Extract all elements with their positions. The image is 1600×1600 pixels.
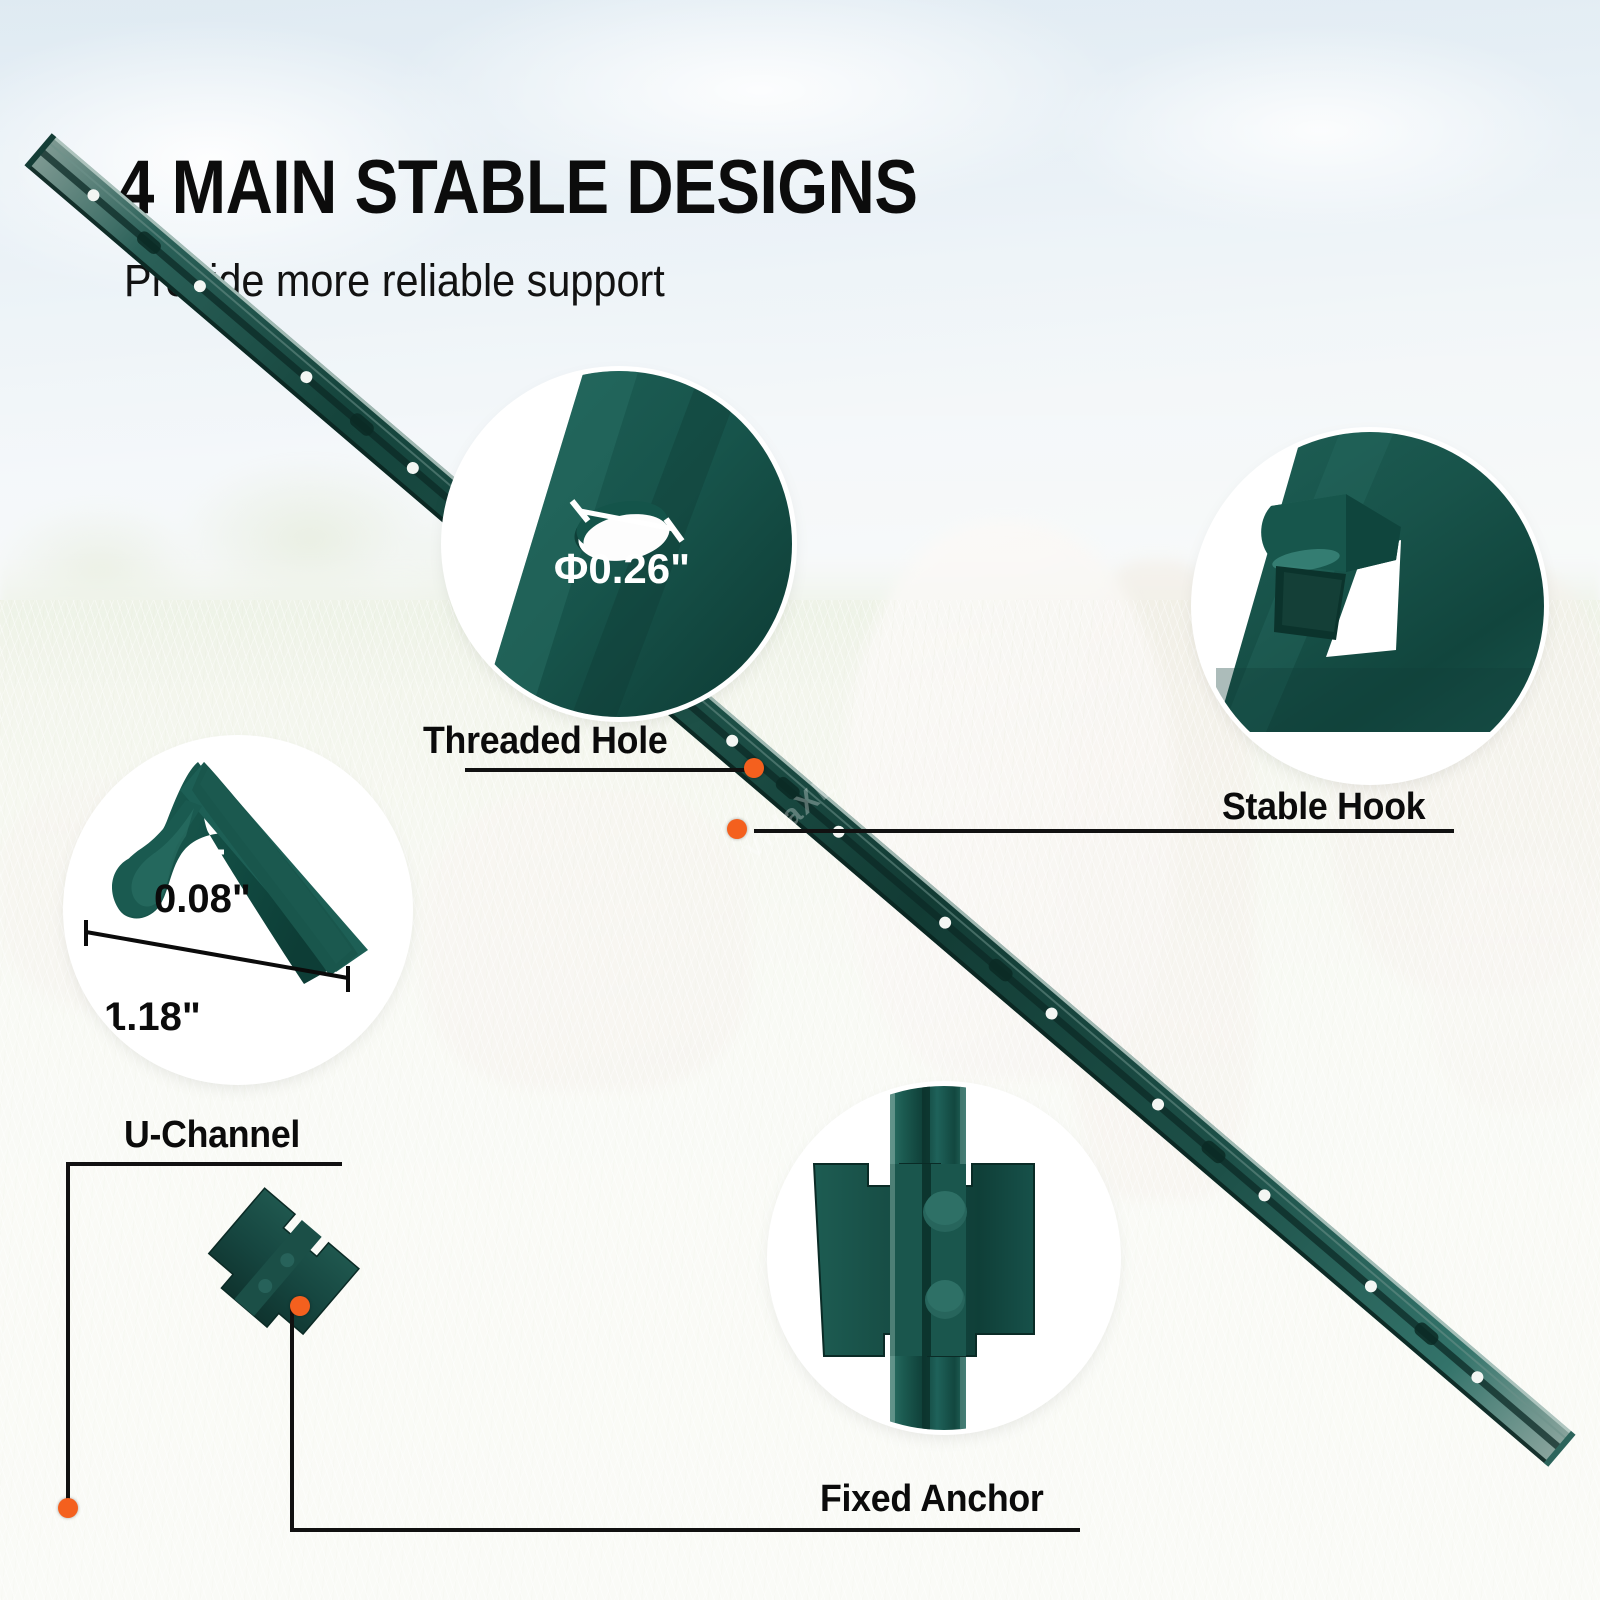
label-fixed-anchor: Fixed Anchor [820,1478,1044,1521]
label-threaded-hole: Threaded Hole [423,720,667,763]
leader-u-channel-v [66,1162,70,1510]
threaded-hole-closeup: Φ0.26" [446,371,792,717]
label-u-channel: U-Channel [124,1114,300,1157]
callout-threaded-hole: Φ0.26" [446,371,792,717]
leader-fixed-anchor-h [290,1528,1080,1532]
fixed-anchor-closeup [772,1086,1116,1430]
label-stable-hook: Stable Hook [1222,786,1425,829]
u-channel-cross-section: 0.08" 1.18" [68,740,408,1080]
leader-u-channel-h [66,1162,342,1166]
marker-fixed-anchor [290,1296,310,1316]
infographic-canvas: 4 MAIN STABLE DESIGNS Provide more relia… [0,0,1600,1600]
marker-u-channel [58,1498,78,1518]
page-subtitle: Provide more reliable support [124,258,665,303]
marker-threaded-hole [744,758,764,778]
callout-u-channel: 0.08" 1.18" [68,740,408,1080]
marker-stable-hook [727,819,747,839]
callout-fixed-anchor [772,1086,1116,1430]
leader-fixed-anchor-v [290,1306,294,1532]
leader-threaded-hole [465,768,755,772]
callout-stable-hook [1196,432,1544,780]
u-channel-thickness: 0.08" [154,877,251,921]
page-title: 4 MAIN STABLE DESIGNS [118,150,918,226]
threaded-hole-dimension: Φ0.26" [554,545,690,592]
leader-stable-hook [754,829,1454,833]
stable-hook-closeup [1196,432,1544,780]
